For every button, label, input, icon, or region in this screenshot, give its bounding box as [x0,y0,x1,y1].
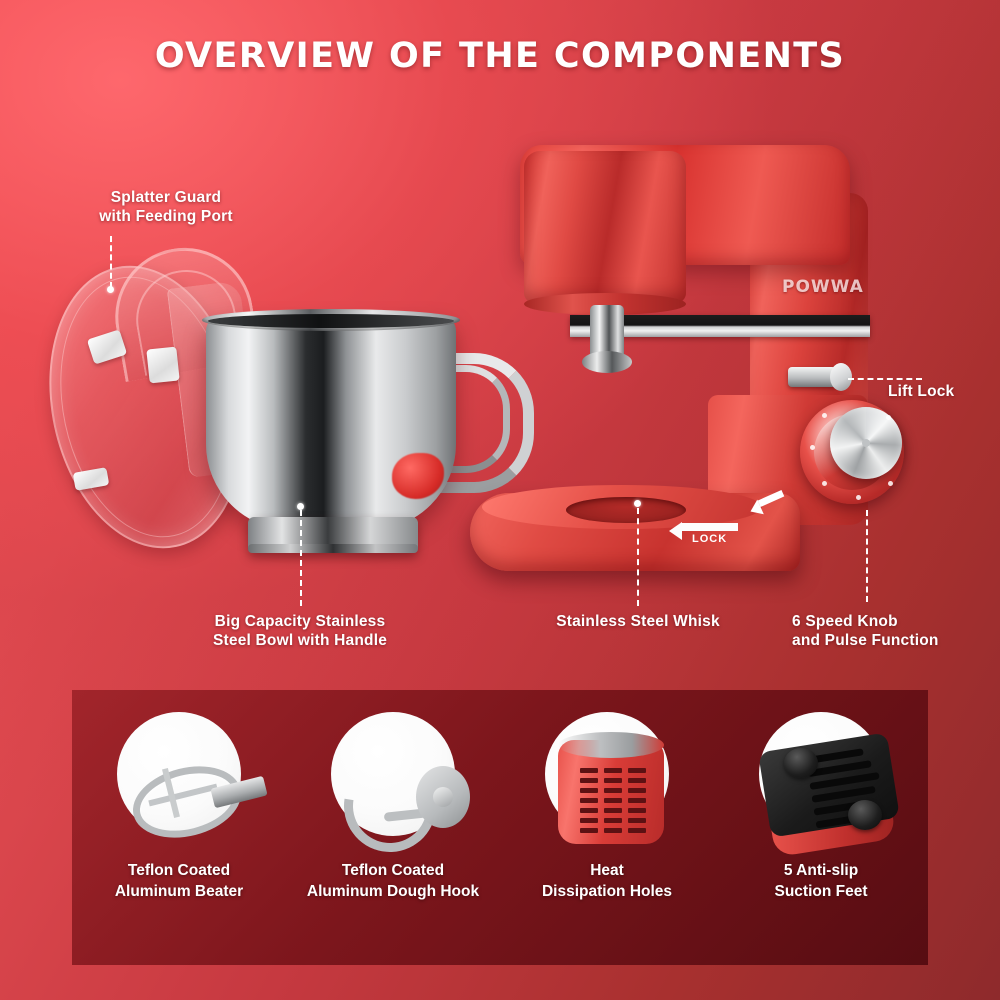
page-title: OVERVIEW OF THE COMPONENTS [0,36,1000,76]
speed-marking [886,415,891,420]
vent-slot [580,808,598,813]
feature-beater: Teflon Coated Aluminum Beater [72,690,286,965]
infographic-canvas: OVERVIEW OF THE COMPONENTS Splatter Guar… [0,0,1000,1000]
callout-label-speed-knob: 6 Speed Knob and Pulse Function [792,612,1000,650]
speed-marking [822,481,827,486]
speed-marking [856,495,861,500]
feature-suction-feet: 5 Anti-slip Suction Feet [714,690,928,965]
vent-slot [604,778,622,783]
attachment-collar [582,351,632,373]
speed-marking [822,413,827,418]
beater-icon [96,706,276,846]
vent-slot [604,818,622,823]
suction-foot [848,800,882,830]
vent-slot [628,818,646,823]
leader-dot [297,503,304,510]
bowl-interior [208,314,454,328]
feature-heat-holes: Heat Dissipation Holes [500,690,714,965]
leader-splatter-guard [110,236,112,288]
vent-slot [604,828,622,833]
leader-dot [634,500,641,507]
speed-marking [888,481,893,486]
suction-feet-icon [738,706,918,846]
leader-bowl [300,510,302,606]
vent-slot [580,818,598,823]
vent-slot [604,788,622,793]
feature-label-heat-holes: Heat Dissipation Holes [500,860,714,902]
feature-label-dough-hook: Teflon Coated Aluminum Dough Hook [286,860,500,902]
feature-dough-hook: Teflon Coated Aluminum Dough Hook [286,690,500,965]
vent-slot [580,788,598,793]
callout-label-splatter-guard: Splatter Guard with Feeding Port [56,188,276,226]
speed-marking [810,445,815,450]
vent-slot [604,808,622,813]
feature-label-beater: Teflon Coated Aluminum Beater [72,860,286,902]
vent-slot [628,778,646,783]
guard-clip [146,347,179,384]
lift-lock-lever[interactable] [788,367,842,387]
callout-label-lift-lock: Lift Lock [888,382,1000,401]
vent-slot [628,808,646,813]
vent-slot [604,768,622,773]
vent-slot [628,798,646,803]
lock-arrow-icon [682,523,738,531]
vent-slot [580,828,598,833]
callout-label-bowl: Big Capacity Stainless Steel Bowl with H… [190,612,410,650]
leader-speed-knob [866,510,868,602]
feature-label-suction-feet: 5 Anti-slip Suction Feet [714,860,928,902]
leader-whisk [637,508,639,606]
vent-slot [628,828,646,833]
brand-logo: POWWA [782,277,864,297]
vent-slot [580,778,598,783]
vent-slot [628,768,646,773]
lock-marking-label: LOCK [692,533,727,545]
mixer-bowl-socket [566,497,686,523]
bowl-base-ring [248,517,418,553]
callout-label-whisk: Stainless Steel Whisk [518,612,758,631]
speed-knob[interactable] [830,407,902,479]
leader-lift-lock [848,378,922,380]
vent-slot [580,768,598,773]
vent-slot [580,798,598,803]
vent-slot [604,798,622,803]
vent-slot [628,788,646,793]
mixer-head-drum [524,151,686,303]
stand-mixer-image: POWWA LOCK [470,145,900,585]
feature-panel: Teflon Coated Aluminum Beater Teflon Coa… [72,690,928,965]
vent-holes-icon [524,706,704,846]
dough-hook-icon [310,706,490,846]
leader-dot [107,286,114,293]
suction-foot [784,748,818,778]
